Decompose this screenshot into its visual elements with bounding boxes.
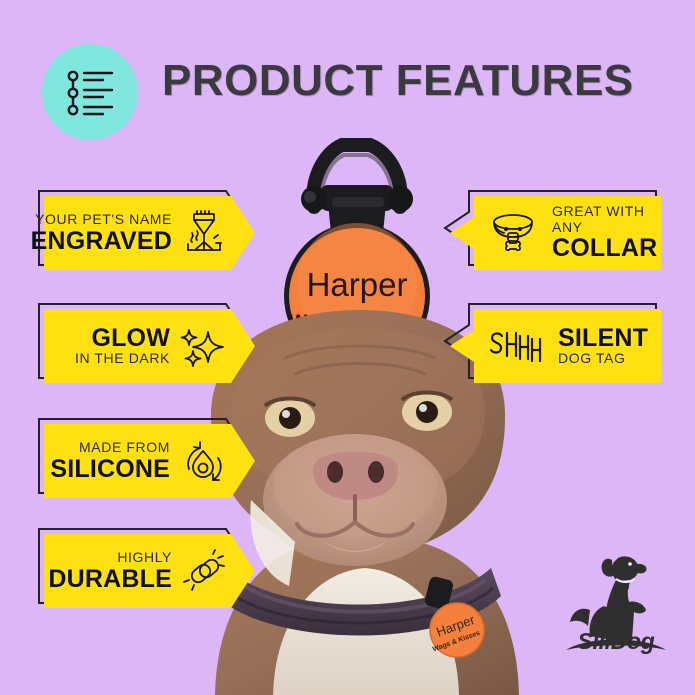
laser-engraver-icon [182, 210, 226, 256]
feature-badge-durable[interactable]: HIGHLY DURABLE [38, 528, 251, 604]
badge-title: SILENT [558, 325, 648, 351]
silicone-droplet-recycle-icon [180, 438, 226, 484]
feature-badge-silicone[interactable]: MADE FROM SILICONE [38, 418, 251, 494]
page-title: PRODUCT FEATURES [162, 56, 634, 106]
feature-list-icon-circle [42, 44, 138, 140]
badge-subtitle: YOUR PET'S NAME [35, 212, 172, 227]
feature-list-icon [64, 66, 118, 120]
badge-subtitle: DOG TAG [558, 351, 625, 366]
badge-subtitle: GREAT WITH ANY [552, 204, 662, 235]
sparkle-icon [180, 324, 226, 368]
badge-title: COLLAR [552, 235, 657, 261]
feature-badge-silent[interactable]: SILENT DOG TAG [441, 303, 657, 379]
shhh-icon [488, 329, 544, 363]
feature-badge-collar[interactable]: GREAT WITH ANY COLLAR [441, 190, 657, 266]
feature-badge-glow[interactable]: GLOW IN THE DARK [38, 303, 251, 379]
badge-title: SILICONE [50, 456, 170, 482]
dog-nose [313, 452, 398, 501]
badge-title: GLOW [91, 325, 170, 351]
badge-title: DURABLE [48, 566, 172, 592]
feature-badge-engraved[interactable]: YOUR PET'S NAME ENGRAVED [38, 190, 251, 266]
badge-subtitle: HIGHLY [117, 550, 172, 565]
brand-name: SiliDog [556, 628, 676, 655]
badge-subtitle: MADE FROM [79, 440, 170, 455]
badge-subtitle: IN THE DARK [75, 351, 170, 366]
chain-link-icon [182, 549, 226, 593]
dog-collar-icon [488, 211, 538, 255]
tag-pet-name: Harper [307, 266, 408, 303]
badge-title: ENGRAVED [31, 228, 172, 254]
infographic-canvas: PRODUCT FEATURES Harpe [0, 0, 695, 695]
